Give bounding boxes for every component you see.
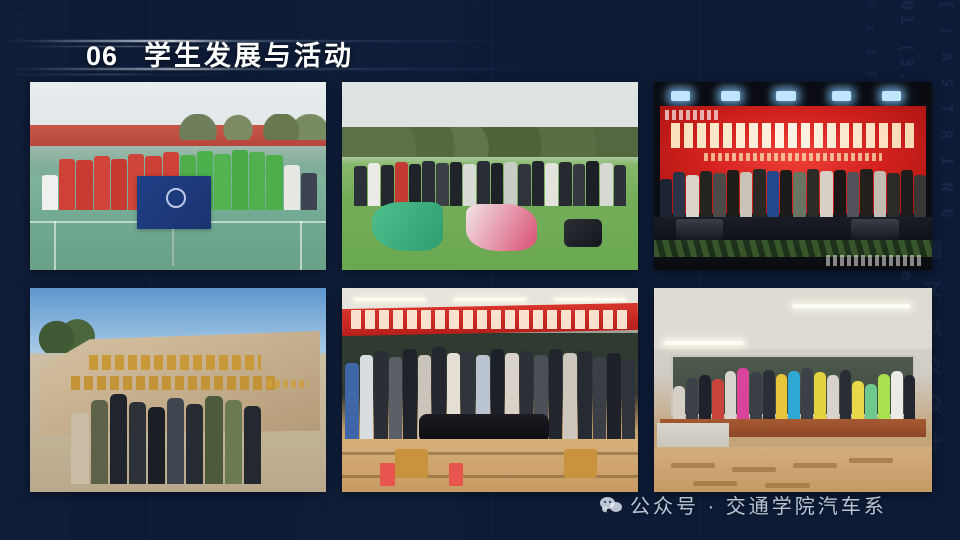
stage-light-4 xyxy=(832,91,851,100)
section-number: 06 xyxy=(86,41,118,72)
desk-slot-3 xyxy=(793,463,837,468)
school-name-crest xyxy=(826,255,921,266)
desk-slot-6 xyxy=(765,483,809,488)
monument-signature xyxy=(267,380,308,388)
presentation-slide: 01 (3.0 <b> #include <stdio.h> { ) A S T… xyxy=(0,0,960,540)
ceiling-light-3 xyxy=(555,298,626,301)
student-group xyxy=(71,386,260,484)
photo-classroom-costumes[interactable] xyxy=(654,288,932,492)
monument-inscription-line1 xyxy=(89,355,261,369)
desk-slot-1 xyxy=(671,463,715,468)
ceremony-subtitle-text xyxy=(704,153,882,161)
title-streak-bottom-faint xyxy=(0,74,330,75)
tree-line xyxy=(342,127,638,157)
banner-text-glyphs xyxy=(351,310,629,328)
school-logo-mark xyxy=(665,110,721,119)
stage-monitor-left xyxy=(676,219,723,240)
chair-right xyxy=(564,449,597,478)
ceiling xyxy=(654,288,932,349)
stage-light-1 xyxy=(671,91,690,100)
ceiling-light-2 xyxy=(454,298,525,301)
court-line-2 xyxy=(54,221,56,270)
tree-line xyxy=(166,114,326,140)
ceiling-light-1 xyxy=(665,341,743,345)
photo-air-force-monument[interactable] xyxy=(30,288,326,492)
desk-slot-4 xyxy=(849,458,893,463)
photo-grid xyxy=(30,82,932,492)
team-banner xyxy=(137,176,211,229)
mascot-pink xyxy=(466,204,537,251)
banner-pole xyxy=(172,229,174,267)
ceiling-light-1 xyxy=(354,298,425,301)
drink-cup-2 xyxy=(449,463,464,485)
page-title: 06 学生发展与活动 xyxy=(86,34,354,73)
photo-classroom-banner-group[interactable] xyxy=(342,288,638,492)
ceiling-light-2 xyxy=(793,304,910,308)
court-line-3 xyxy=(300,221,302,270)
watermark-text: 公众号 · 交通学院汽车系 xyxy=(630,490,887,519)
stage-light-5 xyxy=(882,91,901,100)
photo-sports-team-banner[interactable] xyxy=(30,82,326,270)
photo-sports-field-mascots[interactable] xyxy=(342,82,638,270)
ceremony-headline-text xyxy=(671,123,916,147)
drink-cup-1 xyxy=(380,463,395,485)
wechat-icon xyxy=(600,496,622,514)
bg-code-column-5: while ( i < n ) ++ xyxy=(10,0,25,540)
stage-light-2 xyxy=(721,91,740,100)
mascot-green xyxy=(372,202,443,251)
stage-monitor-right xyxy=(851,219,898,240)
desk-slot-5 xyxy=(693,481,737,486)
bag-on-grass xyxy=(564,219,602,247)
photo-anniversary-ceremony[interactable] xyxy=(654,82,932,270)
section-title: 学生发展与活动 xyxy=(144,34,354,73)
desk-slot-2 xyxy=(732,467,776,472)
chair-left xyxy=(395,449,428,478)
crowd-row xyxy=(660,165,927,218)
standing-row xyxy=(354,157,626,206)
watermark: 公众号 · 交通学院汽车系 xyxy=(600,490,887,519)
stage-light-3 xyxy=(776,91,795,100)
